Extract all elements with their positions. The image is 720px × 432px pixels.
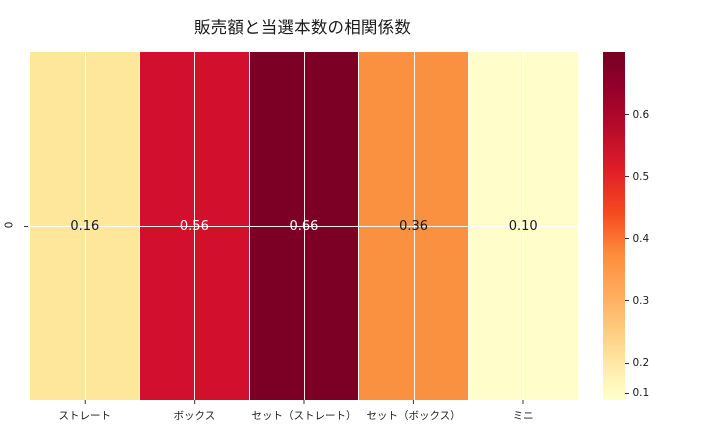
colorbar-tick-mark [625, 114, 629, 115]
x-tick-label: ミニ [513, 408, 534, 423]
colorbar-tick-4: 0.2 [625, 357, 649, 369]
x-tick-1: ボックス [174, 400, 216, 423]
heatmap-cell[interactable]: 0.66 [249, 52, 359, 400]
colorbar-tick-label: 0.2 [633, 357, 650, 369]
x-tick-mark [84, 400, 85, 404]
heatmap-cell[interactable]: 0.10 [468, 52, 578, 400]
colorbar-tick-2: 0.4 [625, 233, 649, 245]
colorbar-tick-mark [625, 238, 629, 239]
colorbar-tick-label: 0.3 [633, 295, 650, 307]
y-tick-mark [24, 226, 28, 227]
colorbar-tick-mark [625, 176, 629, 177]
x-tick-mark [194, 400, 195, 404]
colorbar-gradient [603, 52, 625, 400]
chart-title: 販売額と当選本数の相関係数 [0, 14, 605, 38]
colorbar-tick-3: 0.3 [625, 295, 649, 307]
heatmap-cells: 0.16 0.56 0.66 0.36 0.10 [30, 52, 578, 400]
colorbar-tick-label: 0.4 [633, 233, 650, 245]
x-tick-label: セット（ボックス） [367, 408, 461, 423]
colorbar-tick-label: 0.1 [633, 387, 650, 399]
colorbar-tick-0: 0.6 [625, 109, 649, 121]
x-tick-label: セット（ストレート） [252, 408, 357, 423]
colorbar-tick-mark [625, 363, 629, 364]
heatmap-cell-value: 0.16 [70, 220, 99, 233]
heatmap-cell[interactable]: 0.36 [359, 52, 469, 400]
x-tick-label: ボックス [174, 408, 216, 423]
y-tick-label: 0 [3, 222, 15, 229]
x-tick-0: ストレート [59, 400, 112, 423]
heatmap-plot-area: 0.16 0.56 0.66 0.36 0.10 [30, 52, 578, 400]
colorbar-tick-1: 0.5 [625, 171, 649, 183]
heatmap-cell-value: 0.56 [180, 220, 209, 233]
colorbar-tick-mark [625, 300, 629, 301]
colorbar-tick-label: 0.5 [633, 171, 650, 183]
cell-separator [468, 52, 469, 400]
colorbar-tick-label: 0.6 [633, 109, 650, 121]
chart-figure: 販売額と当選本数の相関係数 0.16 0.56 0.66 0.36 [0, 0, 720, 432]
heatmap-cell-value: 0.66 [290, 220, 319, 233]
x-tick-mark [523, 400, 524, 404]
colorbar[interactable]: 0.6 0.5 0.4 0.3 0.2 0.1 [603, 52, 625, 400]
cell-separator [139, 52, 140, 400]
x-tick-label: ストレート [59, 408, 112, 423]
x-tick-4: ミニ [513, 400, 534, 423]
x-tick-3: セット（ボックス） [367, 400, 461, 423]
heatmap-cell[interactable]: 0.56 [140, 52, 250, 400]
x-tick-mark [304, 400, 305, 404]
colorbar-tick-5: 0.1 [625, 387, 649, 399]
cell-separator [249, 52, 250, 400]
heatmap-cell-value: 0.36 [399, 220, 428, 233]
x-tick-mark [413, 400, 414, 404]
heatmap-cell[interactable]: 0.16 [30, 52, 140, 400]
heatmap-cell-value: 0.10 [509, 220, 538, 233]
cell-separator [358, 52, 359, 400]
colorbar-tick-mark [625, 393, 629, 394]
x-tick-2: セット（ストレート） [252, 400, 357, 423]
